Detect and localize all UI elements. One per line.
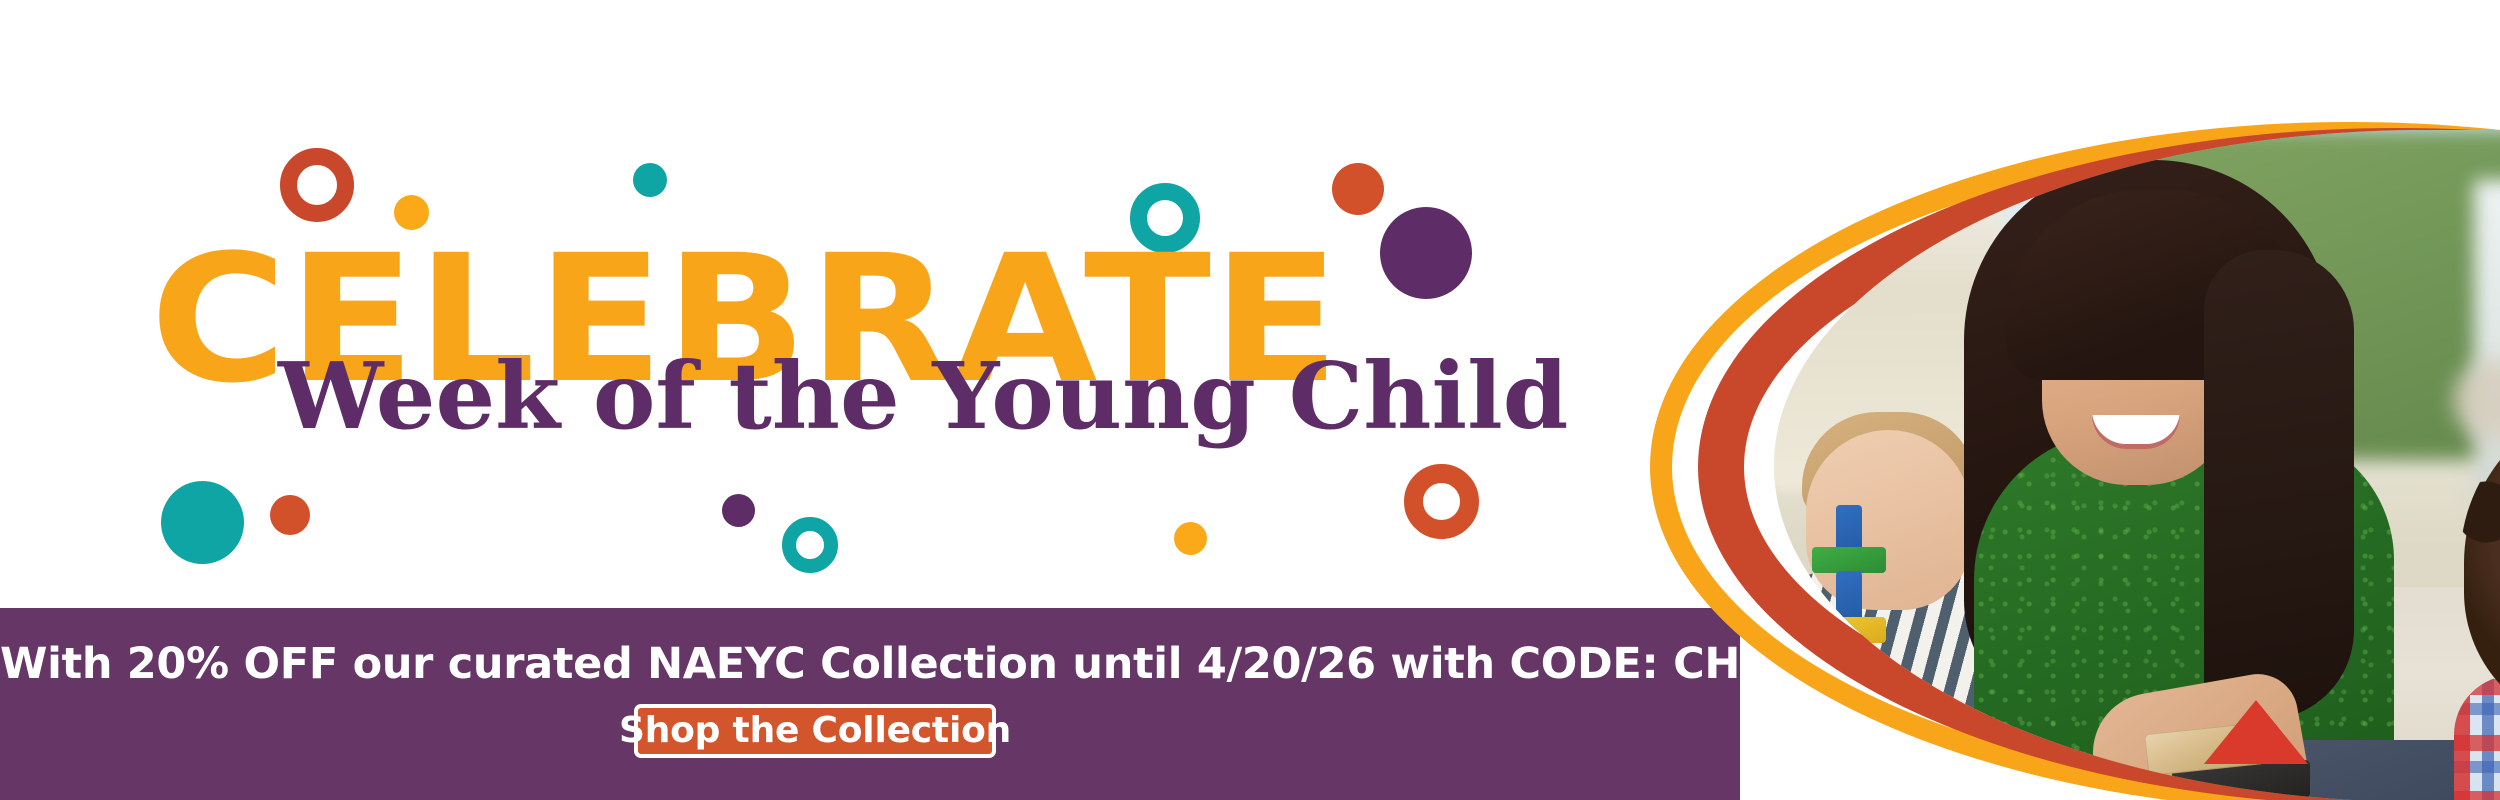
promo-offer-text: With 20% OFF our curated NAEYC Collectio… <box>0 639 1660 689</box>
headline-group: CELEBRATE Week of the Young Child <box>0 232 1700 492</box>
dot-teal-bottom-left-icon <box>161 481 244 564</box>
ring-teal-bottom-mid-icon <box>782 517 838 573</box>
shop-the-collection-button-label: Shop the Collection <box>619 713 1011 749</box>
ring-orange-top-left-icon <box>280 148 354 222</box>
promotional-banner: CELEBRATE Week of the Young Child With 2… <box>0 0 2500 800</box>
page-subtitle: Week of the Young Child <box>278 350 1568 442</box>
dot-purple-bottom-mid-icon <box>722 494 755 527</box>
shop-the-collection-button[interactable]: Shop the Collection <box>634 704 996 758</box>
dot-orange-top-right-icon <box>1332 163 1384 215</box>
dot-amber-bottom-right-icon <box>1174 522 1207 555</box>
teacher-hair-side <box>2204 250 2354 720</box>
classroom-photo <box>1774 130 2500 800</box>
classroom-photo-frame <box>1774 130 2500 800</box>
banner-photo-panel <box>1640 0 2500 800</box>
dot-teal-top-mid-icon <box>633 163 667 197</box>
dot-orange-bottom-left-icon <box>270 495 310 535</box>
